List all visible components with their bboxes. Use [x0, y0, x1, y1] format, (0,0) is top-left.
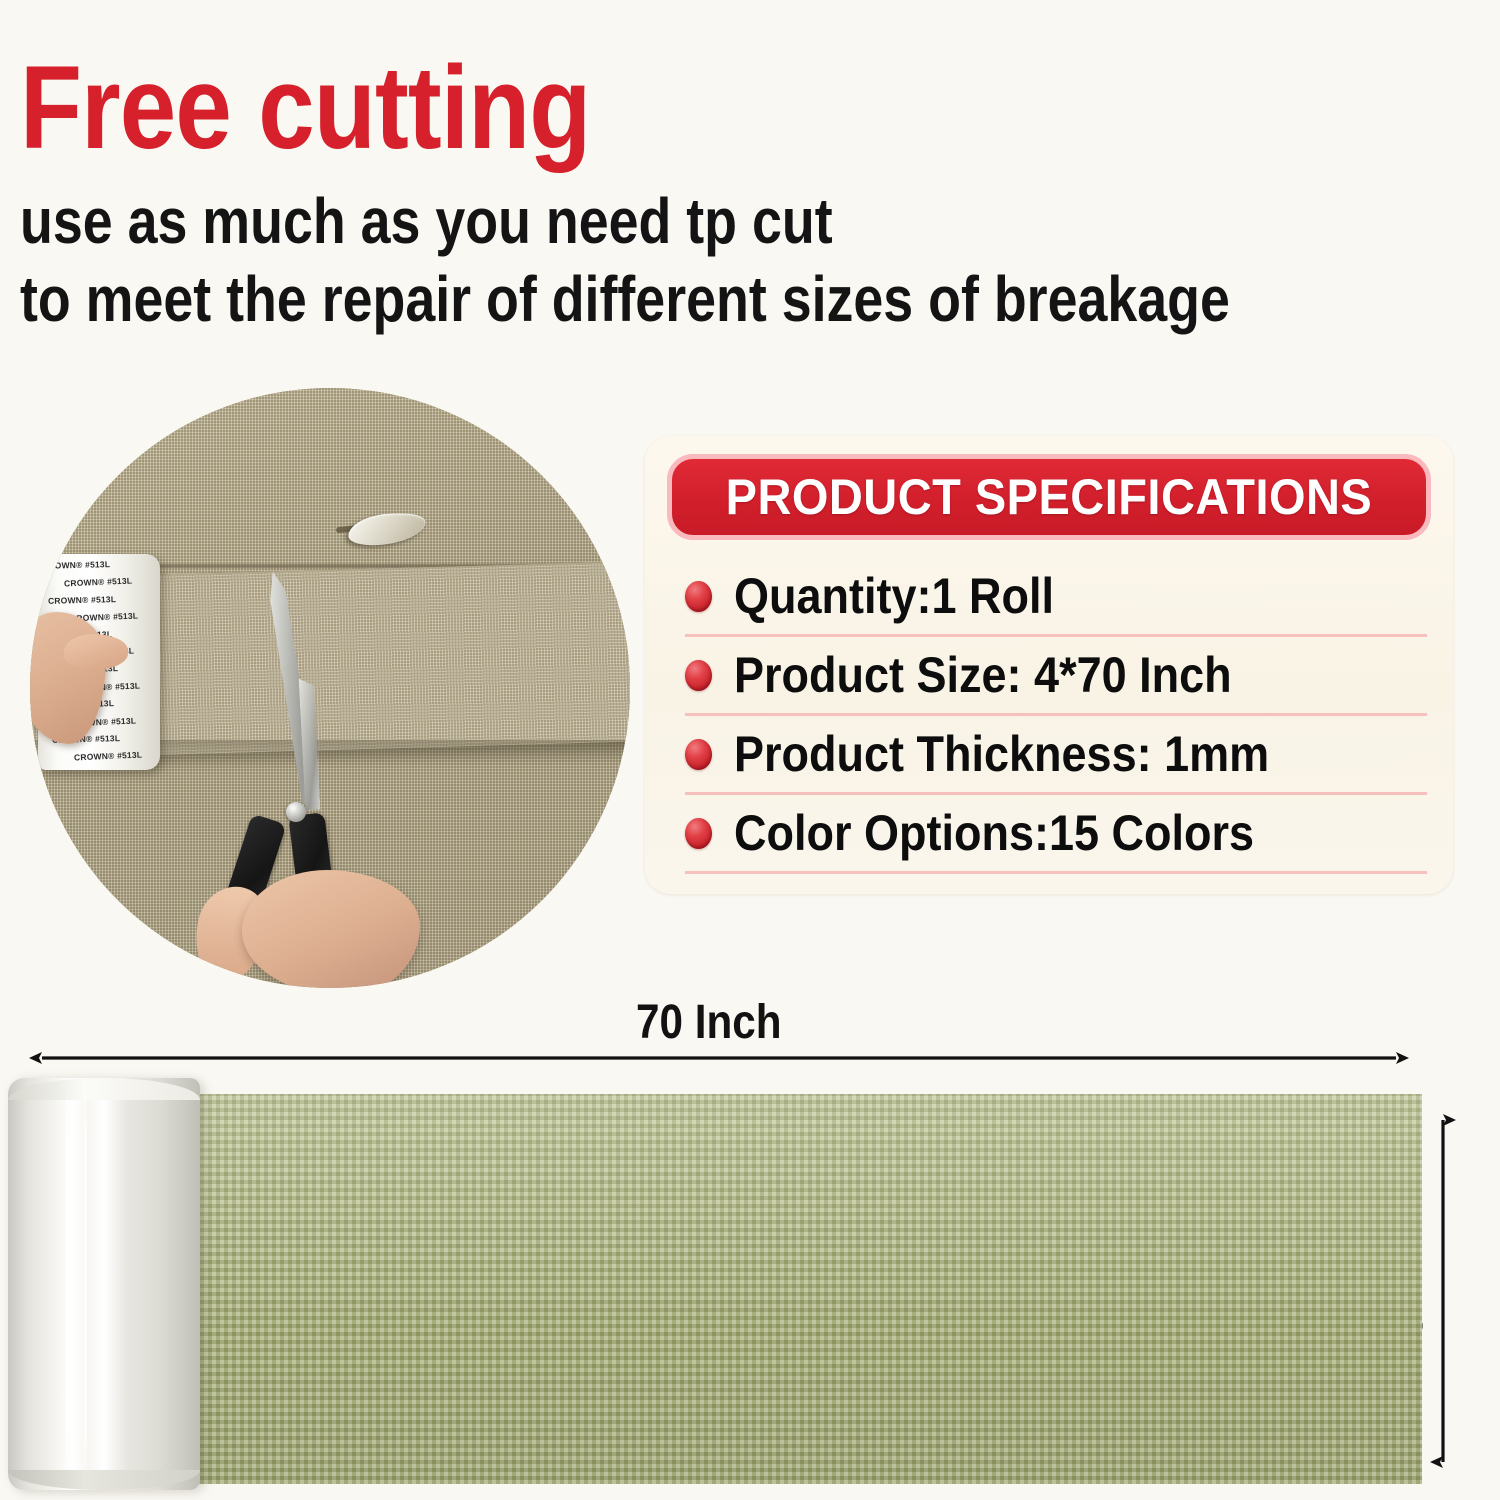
tape-roll-top-edge — [8, 1078, 200, 1100]
bullet-dot-icon — [685, 739, 712, 770]
tape-roll-bottom-edge — [8, 1470, 200, 1490]
cutting-demo-photo: CROWN® #513LCROWN® #513LCROWN® #513LCROW… — [30, 388, 630, 988]
subtitle-line-2: to meet the repair of different sizes of… — [20, 264, 1246, 336]
spec-header-title: PRODUCT SPECIFICATIONS — [726, 468, 1373, 526]
tape-roll-label: CROWN® #513L — [42, 559, 110, 571]
spec-header-banner: PRODUCT SPECIFICATIONS — [667, 454, 1431, 540]
right-hand — [242, 870, 420, 988]
tape-roll-label: CROWN® #513L — [48, 594, 116, 606]
bullet-dot-icon — [685, 581, 712, 612]
spec-row: Product Thickness: 1mm — [685, 716, 1427, 795]
spec-item-product-size: Product Size: 4*70 Inch — [734, 646, 1232, 704]
spec-list: Quantity:1 Roll Product Size: 4*70 Inch … — [685, 558, 1427, 874]
infographic-canvas: Free cutting use as much as you need tp … — [0, 0, 1500, 1500]
tape-roll-highlight — [100, 1084, 103, 1482]
spec-item-thickness: Product Thickness: 1mm — [734, 725, 1269, 783]
tape-roll-highlight — [66, 1084, 69, 1482]
bullet-dot-icon — [685, 660, 712, 691]
tape-roll-label: CROWN® #513L — [64, 576, 133, 589]
headline-block: Free cutting use as much as you need tp … — [20, 48, 1480, 336]
page-title: Free cutting — [20, 48, 1276, 168]
spec-item-quantity: Quantity:1 Roll — [734, 567, 1054, 625]
subtitle-line-1: use as much as you need tp cut — [20, 186, 1246, 258]
tape-roll-highlight — [84, 1084, 87, 1482]
product-tape-roll — [8, 1078, 200, 1490]
spec-row: Quantity:1 Roll — [685, 558, 1427, 637]
bullet-dot-icon — [685, 818, 712, 849]
spec-row: Color Options:15 Colors — [685, 795, 1427, 874]
spec-item-color-options: Color Options:15 Colors — [734, 804, 1254, 862]
tape-roll-label: CROWN® #513L — [74, 750, 143, 763]
index-finger — [64, 634, 128, 670]
dimension-height-arrow — [1425, 1105, 1461, 1477]
product-specifications-panel: PRODUCT SPECIFICATIONS Quantity:1 Roll P… — [645, 436, 1453, 894]
dimension-width-arrow — [28, 1040, 1410, 1076]
spec-row: Product Size: 4*70 Inch — [685, 637, 1427, 716]
scissor-pivot-screw — [286, 802, 306, 822]
product-fabric-strip — [196, 1094, 1422, 1484]
